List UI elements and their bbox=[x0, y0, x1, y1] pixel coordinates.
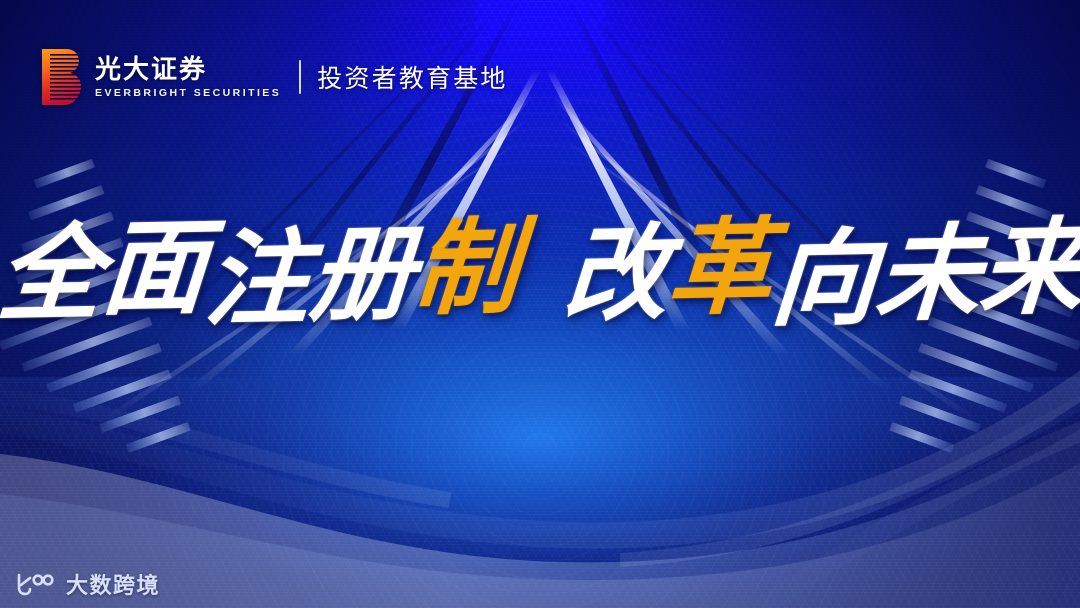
everbright-b-logo-icon bbox=[40, 48, 82, 106]
hero-title: 全 面 注 册 制 改 革 向 未 来 bbox=[0, 222, 1080, 326]
poster-canvas: 光大证券 EVERBRIGHT SECURITIES 投资者教育基地 全 面 注… bbox=[0, 0, 1080, 608]
hero-char-zhu: 注 bbox=[201, 226, 312, 332]
hero-char-zhi: 制 bbox=[410, 215, 521, 321]
brand-subtitle: 投资者教育基地 bbox=[317, 59, 507, 95]
hero-char-quan: 全 bbox=[0, 221, 105, 327]
brand-divider bbox=[299, 60, 301, 94]
brand-name-en: EVERBRIGHT SECURITIES bbox=[95, 88, 281, 100]
brand-header: 光大证券 EVERBRIGHT SECURITIES 投资者教育基地 bbox=[40, 48, 508, 106]
hero-char-wei: 未 bbox=[871, 221, 982, 327]
hero-char-ge: 革 bbox=[664, 215, 775, 321]
hero-char-gai: 改 bbox=[559, 221, 670, 327]
dashu-kuajing-logo-icon bbox=[14, 571, 56, 597]
hero-char-mian: 面 bbox=[98, 215, 209, 321]
hero-line-left: 全 面 注 册 制 bbox=[0, 222, 517, 326]
hero-char-lai: 来 bbox=[976, 215, 1080, 321]
watermark-text: 大数跨境 bbox=[66, 568, 160, 600]
brand-name-cn: 光大证券 bbox=[95, 55, 281, 83]
watermark: 大数跨境 bbox=[14, 568, 160, 600]
brand-name-block: 光大证券 EVERBRIGHT SECURITIES bbox=[95, 55, 281, 100]
hero-char-xiang: 向 bbox=[767, 226, 878, 332]
hero-char-ce: 册 bbox=[305, 221, 416, 327]
hero-line-right: 改 革 向 未 来 bbox=[563, 222, 1080, 326]
